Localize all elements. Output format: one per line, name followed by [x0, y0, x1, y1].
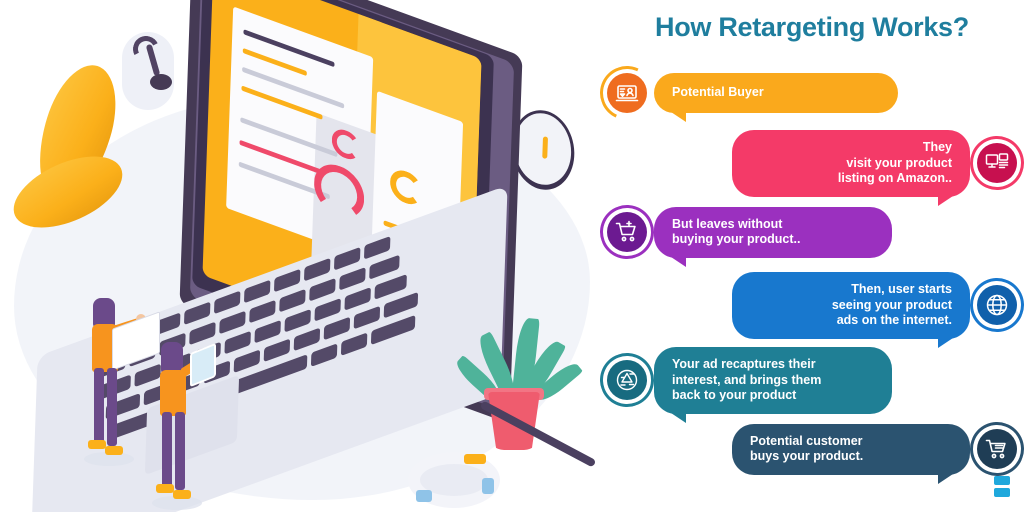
- key: [354, 306, 380, 330]
- product-listing-glyph: [985, 151, 1009, 175]
- person-shoe: [105, 446, 123, 455]
- step-5-line-2: interest, and brings them: [672, 373, 821, 389]
- brand-mark: [994, 476, 1010, 498]
- step-2-bubble: They visit your product listing on Amazo…: [732, 130, 970, 197]
- step-6-bubble: Potential customer buys your product.: [732, 424, 970, 475]
- hook-ball: [150, 74, 172, 90]
- key: [369, 255, 399, 280]
- key: [384, 292, 418, 319]
- key: [311, 343, 337, 367]
- step-2-line-2: visit your product: [846, 156, 952, 172]
- product-listing-screen-icon: [970, 136, 1024, 190]
- key: [234, 349, 260, 373]
- cart-filled-glyph: [985, 437, 1009, 461]
- step-3[interactable]: But leaves without buying your product..: [600, 205, 1024, 259]
- step-6[interactable]: Potential customer buys your product.: [600, 422, 1024, 476]
- step-5-bubble: Your ad recaptures their interest, and b…: [654, 347, 892, 414]
- person-leg: [107, 368, 117, 446]
- key: [249, 300, 275, 324]
- step-2[interactable]: They visit your product listing on Amazo…: [600, 130, 1024, 197]
- key: [254, 320, 280, 344]
- laptop-user-glyph: [615, 81, 639, 105]
- key: [214, 291, 240, 315]
- key: [364, 236, 390, 260]
- person-shoe: [88, 440, 106, 449]
- step-3-line-2: buying your product..: [672, 232, 800, 248]
- laptop-user-icon: [600, 66, 654, 120]
- step-3-bubble: But leaves without buying your product..: [654, 207, 892, 258]
- brand-bar-top: [994, 476, 1010, 485]
- icon-disc: [607, 73, 647, 113]
- person-leg: [162, 412, 172, 490]
- step-6-line-2: buys your product.: [750, 449, 863, 465]
- key: [279, 289, 305, 313]
- isometric-laptop-illustration: [0, 0, 620, 512]
- step-4-bubble: Then, user starts seeing your product ad…: [732, 272, 970, 339]
- key: [219, 311, 245, 335]
- step-4-line-3: ads on the internet.: [837, 313, 952, 329]
- life-ring-segment: [482, 478, 494, 494]
- key: [339, 267, 365, 291]
- step-1-label: Potential Buyer: [672, 85, 764, 101]
- key: [314, 298, 340, 322]
- globe-glyph: [985, 293, 1009, 317]
- cart-glyph: [615, 220, 639, 244]
- step-1[interactable]: Potential Buyer: [600, 66, 1024, 120]
- icon-disc: [607, 212, 647, 252]
- step-2-line-1: They: [923, 140, 952, 156]
- step-6-line-1: Potential customer: [750, 434, 863, 450]
- person-torso: [160, 370, 186, 416]
- key: [274, 269, 300, 293]
- person-leg: [175, 412, 185, 490]
- key: [374, 274, 406, 300]
- clock-hand: [542, 137, 548, 159]
- step-2-line-3: listing on Amazon..: [838, 171, 952, 187]
- step-5[interactable]: Your ad recaptures their interest, and b…: [600, 347, 1024, 414]
- life-ring-icon: [408, 452, 500, 508]
- key: [294, 328, 320, 352]
- step-4[interactable]: Then, user starts seeing your product ad…: [600, 272, 1024, 339]
- person-shoe: [173, 490, 191, 499]
- icon-disc: [977, 143, 1017, 183]
- icon-disc: [977, 429, 1017, 469]
- brand-bar-bottom: [994, 488, 1010, 497]
- step-4-line-1: Then, user starts: [851, 282, 952, 298]
- key: [309, 278, 335, 302]
- person-leg: [94, 368, 104, 446]
- life-ring-segment: [416, 490, 432, 502]
- step-5-line-3: back to your product: [672, 388, 796, 404]
- key: [189, 322, 215, 346]
- retargeting-steps-panel: How Retargeting Works?: [600, 0, 1024, 512]
- step-4-line-2: seeing your product: [832, 298, 952, 314]
- key: [341, 332, 367, 356]
- key: [264, 338, 290, 362]
- icon-disc: [607, 360, 647, 400]
- key: [244, 280, 270, 304]
- page-title: How Retargeting Works?: [600, 12, 1024, 43]
- infographic-canvas: How Retargeting Works?: [0, 0, 1024, 512]
- key: [224, 331, 250, 355]
- key: [134, 364, 160, 388]
- ad-recapture-target-icon: [600, 353, 654, 407]
- life-ring-segment: [464, 454, 486, 464]
- key: [344, 287, 370, 311]
- key: [284, 309, 310, 333]
- key: [334, 247, 360, 271]
- step-3-line-1: But leaves without: [672, 217, 782, 233]
- step-5-line-1: Your ad recaptures their: [672, 357, 816, 373]
- icon-disc: [977, 285, 1017, 325]
- recapture-glyph: [615, 368, 639, 392]
- shopping-cart-filled-icon: [970, 422, 1024, 476]
- person-shoe: [156, 484, 174, 493]
- shopping-cart-icon: [600, 205, 654, 259]
- key: [324, 317, 350, 341]
- globe-internet-icon: [970, 278, 1024, 332]
- key: [304, 258, 330, 282]
- step-1-bubble: Potential Buyer: [654, 73, 898, 113]
- key: [184, 301, 210, 325]
